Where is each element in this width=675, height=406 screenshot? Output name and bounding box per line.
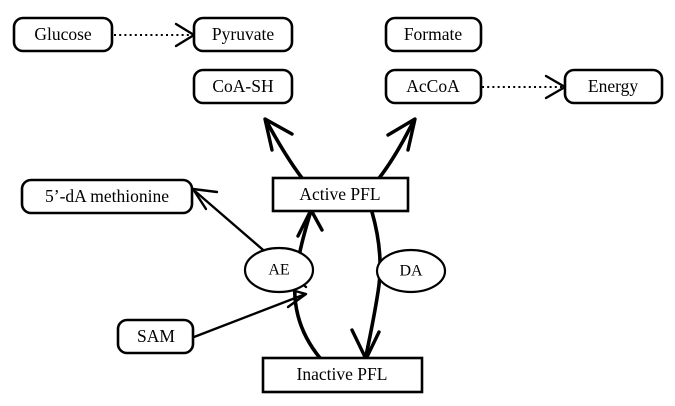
node-sam[interactable]: SAM bbox=[118, 320, 193, 353]
da-label: DA bbox=[399, 263, 423, 280]
ae-label: AE bbox=[268, 262, 289, 279]
active-pfl-label: Active PFL bbox=[299, 184, 380, 204]
sam-label: SAM bbox=[137, 326, 175, 346]
coash-label: CoA-SH bbox=[212, 76, 274, 96]
node-accoa[interactable]: AcCoA bbox=[386, 70, 481, 103]
edge-active-to-inactive-pfl bbox=[352, 212, 380, 359]
node-energy[interactable]: Energy bbox=[565, 70, 662, 103]
node-inactive-pfl[interactable]: Inactive PFL bbox=[263, 358, 422, 392]
node-ae[interactable]: AE bbox=[245, 248, 313, 292]
node-coash[interactable]: CoA-SH bbox=[194, 70, 292, 103]
edge-glucose-to-pyruvate bbox=[114, 24, 194, 46]
formate-label: Formate bbox=[404, 24, 463, 44]
energy-label: Energy bbox=[588, 76, 638, 96]
da-methionine-label: 5’-dA methionine bbox=[45, 186, 169, 206]
node-da[interactable]: DA bbox=[377, 250, 445, 292]
glucose-label: Glucose bbox=[34, 24, 92, 44]
node-active-pfl[interactable]: Active PFL bbox=[273, 178, 408, 211]
pathway-canvas: Glucose Pyruvate CoA-SH Formate AcCoA En… bbox=[0, 0, 675, 406]
inactive-pfl-label: Inactive PFL bbox=[297, 364, 388, 384]
accoa-label: AcCoA bbox=[406, 76, 460, 96]
node-pyruvate[interactable]: Pyruvate bbox=[194, 18, 292, 51]
node-glucose[interactable]: Glucose bbox=[14, 18, 112, 51]
node-da-methionine[interactable]: 5’-dA methionine bbox=[22, 180, 192, 213]
edge-sam-to-ae bbox=[194, 288, 306, 337]
pathway-diagram: Glucose Pyruvate CoA-SH Formate AcCoA En… bbox=[0, 0, 675, 406]
pyruvate-label: Pyruvate bbox=[212, 24, 274, 44]
node-formate[interactable]: Formate bbox=[386, 18, 481, 51]
edge-accoa-to-energy bbox=[482, 76, 565, 98]
